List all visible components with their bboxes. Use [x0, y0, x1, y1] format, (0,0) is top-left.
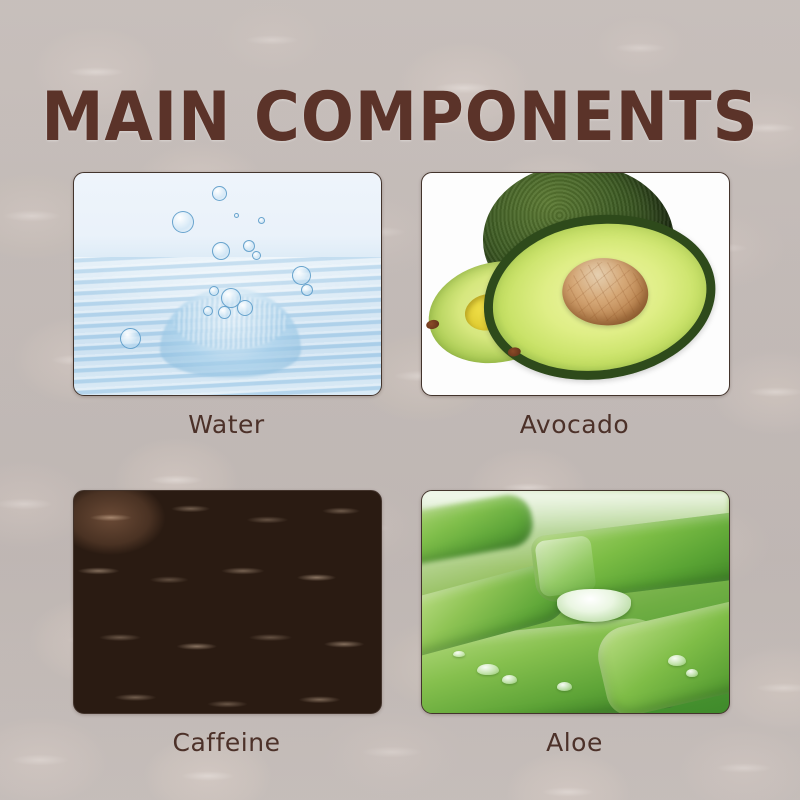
water-bubble-icon [237, 300, 253, 316]
aloe-water-droplet [477, 664, 498, 675]
water-bubble-icon [252, 251, 261, 260]
water-bubble-icon [212, 186, 227, 201]
avocado-stem-icon [507, 347, 521, 358]
components-grid: Water Avocado Caffeine [73, 172, 728, 772]
component-item-aloe[interactable]: Aloe [421, 490, 728, 755]
caffeine-image-card[interactable] [73, 490, 382, 714]
component-label-caffeine: Caffeine [73, 730, 380, 755]
water-bubble-icon [172, 211, 194, 233]
avocado-image-card[interactable] [421, 172, 730, 396]
component-label-avocado: Avocado [421, 412, 728, 437]
avocado-pit [561, 255, 652, 328]
water-bubble-icon [212, 242, 230, 260]
component-item-water[interactable]: Water [73, 172, 380, 437]
water-bubble-icon [234, 213, 239, 218]
aloe-water-droplet [557, 682, 572, 691]
component-label-aloe: Aloe [421, 730, 728, 755]
avocado-stem-icon [426, 318, 441, 330]
aloe-image-card[interactable] [421, 490, 730, 714]
water-bubble-icon [243, 240, 255, 252]
page-title: MAIN COMPONENTS [0, 84, 800, 152]
water-image-card[interactable] [73, 172, 382, 396]
water-bubble-icon [258, 217, 265, 224]
component-item-avocado[interactable]: Avocado [421, 172, 728, 437]
poster-canvas: MAIN COMPONENTS [0, 0, 800, 800]
aloe-water-droplet [502, 675, 517, 684]
component-label-water: Water [73, 412, 380, 437]
aloe-water-droplet [668, 655, 686, 666]
aloe-gel-droplet [557, 589, 631, 622]
component-item-caffeine[interactable]: Caffeine [73, 490, 380, 755]
